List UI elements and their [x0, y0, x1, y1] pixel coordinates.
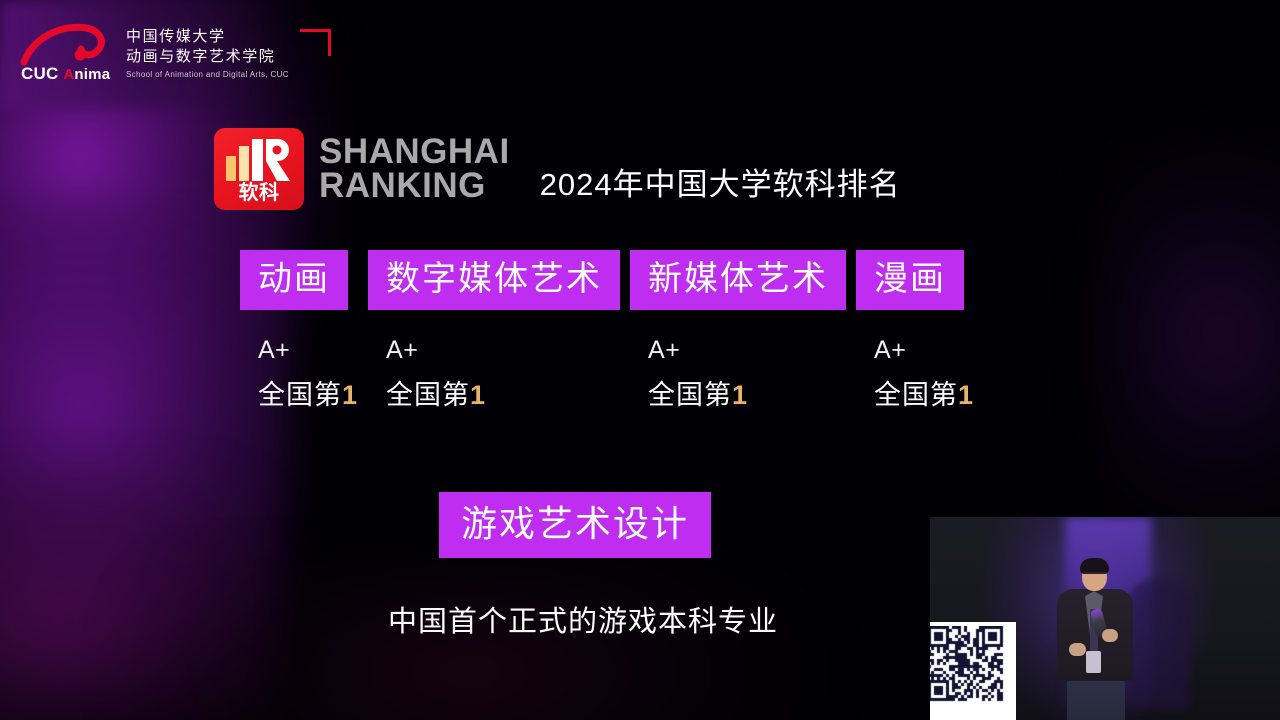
- speaker-badge: [1086, 651, 1101, 673]
- wordmark-ranking: RANKING: [319, 169, 510, 203]
- shanghairanking-cn-text: 软科: [214, 183, 304, 203]
- major-column: 新媒体艺术 A+ 全国第1: [630, 250, 846, 409]
- purple-glow-bottom: [120, 560, 820, 720]
- rank-number: 1: [732, 380, 748, 410]
- major-column: 漫画 A+ 全国第1: [856, 250, 974, 409]
- speaker-left-hand: [1069, 643, 1086, 656]
- rank-prefix: 全国第: [874, 380, 958, 410]
- cuc-swoosh-icon: [16, 22, 112, 66]
- speaker-glasses: [1083, 572, 1106, 579]
- major-chip-animation: 动画: [240, 250, 348, 310]
- institution-name-block: 中国传媒大学 动画与数字艺术学院 School of Animation and…: [126, 27, 323, 80]
- presentation-slide: CUC Anima 中国传媒大学 动画与数字艺术学院 School of Ani…: [0, 0, 1280, 720]
- major-national-rank: 全国第1: [258, 382, 358, 409]
- major-grade: A+: [258, 338, 290, 363]
- speaker-shadow: [1128, 579, 1190, 709]
- qr-code-canvas: [930, 626, 1012, 720]
- major-chip-comics: 漫画: [856, 250, 964, 310]
- major-national-rank: 全国第1: [874, 382, 974, 409]
- rank-number: 1: [342, 380, 358, 410]
- major-national-rank: 全国第1: [386, 382, 486, 409]
- major-grade: A+: [874, 338, 906, 363]
- speaker-legs: [1067, 679, 1125, 720]
- major-column: 动画 A+ 全国第1: [240, 250, 358, 409]
- major-national-rank: 全国第1: [648, 382, 748, 409]
- major-chip-digital-media-art: 数字媒体艺术: [368, 250, 620, 310]
- anima-rest: nima: [74, 66, 110, 83]
- cuc-anima-logo-mark: CUC Anima: [16, 22, 112, 84]
- bar-chart-r-glyph-icon: [225, 139, 293, 181]
- major-chip-new-media-art: 新媒体艺术: [630, 250, 846, 310]
- university-name-cn: 中国传媒大学: [126, 27, 289, 47]
- majors-row: 动画 A+ 全国第1 数字媒体艺术 A+ 全国第1 新媒体艺术 A+ 全国第1 …: [240, 250, 974, 409]
- cuc-wordmark-anima: Anima: [63, 66, 110, 83]
- cuc-wordmark-cuc: CUC: [21, 64, 58, 83]
- picture-in-picture-video[interactable]: [930, 517, 1280, 720]
- major-grade: A+: [648, 338, 680, 363]
- purple-glow-left-bottom: [0, 470, 270, 720]
- speaker-right-hand: [1102, 629, 1118, 642]
- purple-glow-right-edge: [1100, 120, 1280, 550]
- qr-code[interactable]: [930, 622, 1016, 720]
- school-name-cn: 动画与数字艺术学院: [126, 47, 289, 67]
- major-column: 数字媒体艺术 A+ 全国第1: [368, 250, 620, 409]
- corner-bracket-icon: [300, 29, 331, 56]
- shanghairanking-logo-icon: 软科: [214, 128, 304, 210]
- institution-logo-lockup: CUC Anima 中国传媒大学 动画与数字艺术学院 School of Ani…: [16, 22, 323, 84]
- shanghairanking-wordmark: SHANGHAI RANKING: [319, 135, 510, 203]
- featured-program-chip: 游戏艺术设计: [439, 492, 711, 558]
- ranking-header-row: 软科 SHANGHAI RANKING 2024年中国大学软科排名: [214, 128, 901, 210]
- school-name-en: School of Animation and Digital Arts, CU…: [126, 70, 289, 79]
- rank-number: 1: [470, 380, 486, 410]
- ranking-title: 2024年中国大学软科排名: [540, 159, 901, 204]
- rank-prefix: 全国第: [386, 380, 470, 410]
- cuc-anima-wordmark: CUC Anima: [21, 64, 110, 84]
- wordmark-shanghai: SHANGHAI: [319, 135, 510, 169]
- rank-number: 1: [958, 380, 974, 410]
- rank-prefix: 全国第: [258, 380, 342, 410]
- featured-program-caption: 中国首个正式的游戏本科专业: [388, 598, 778, 640]
- rank-prefix: 全国第: [648, 380, 732, 410]
- anima-initial: A: [63, 66, 74, 83]
- major-grade: A+: [386, 338, 418, 363]
